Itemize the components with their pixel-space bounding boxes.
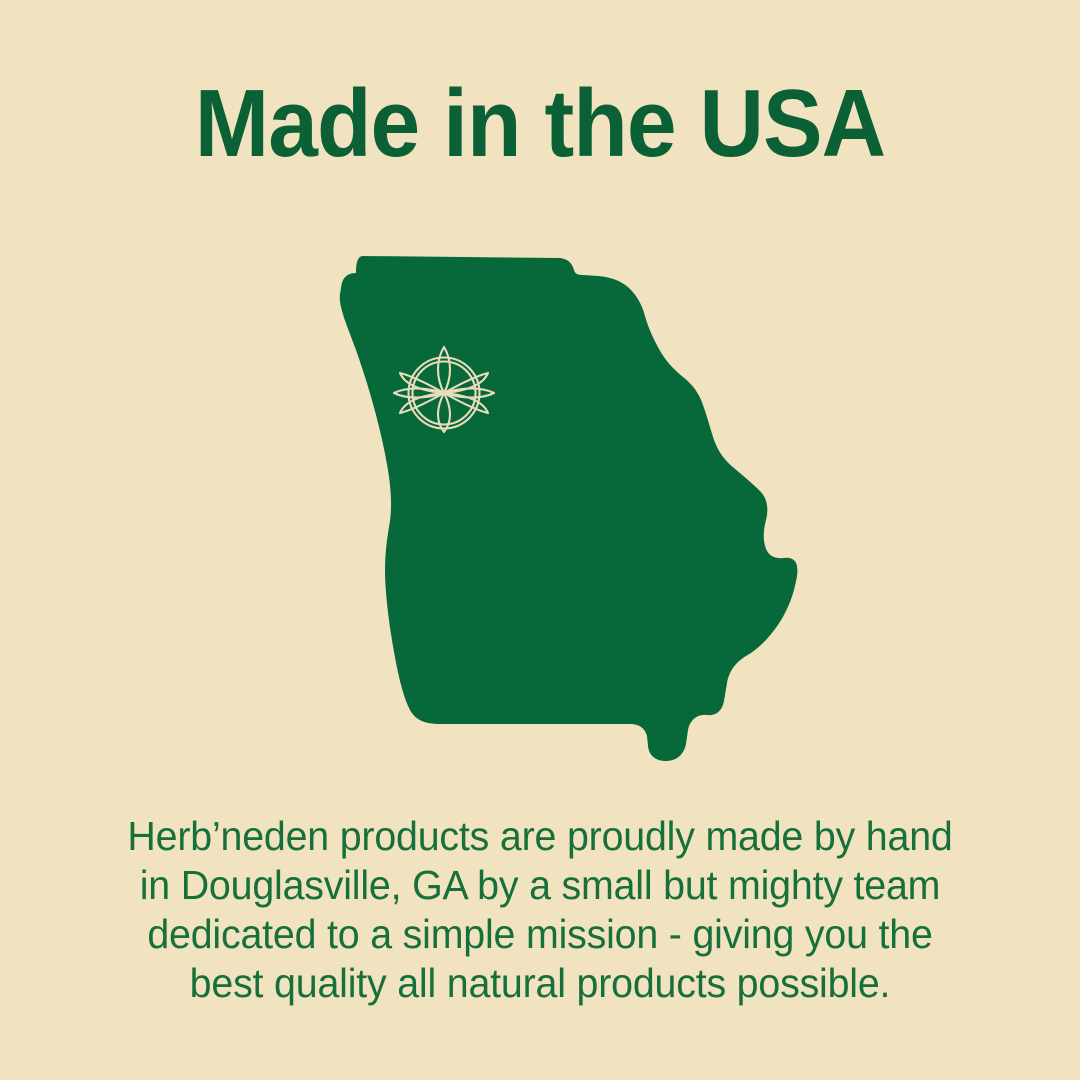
georgia-map-illustration <box>0 232 1080 777</box>
georgia-state-outline-icon <box>340 256 798 761</box>
body-line: Herb’neden products are proudly made by … <box>108 812 972 861</box>
body-line: in Douglasville, GA by a small but might… <box>108 861 972 910</box>
body-line: best quality all natural products possib… <box>108 959 972 1008</box>
made-in-usa-card: Made in the USA <box>0 0 1080 1080</box>
page-title: Made in the USA <box>38 72 1042 176</box>
body-line: dedicated to a simple mission - giving y… <box>108 910 972 959</box>
body-paragraph: Herb’neden products are proudly made by … <box>108 812 972 1008</box>
georgia-map-svg <box>0 232 1080 777</box>
